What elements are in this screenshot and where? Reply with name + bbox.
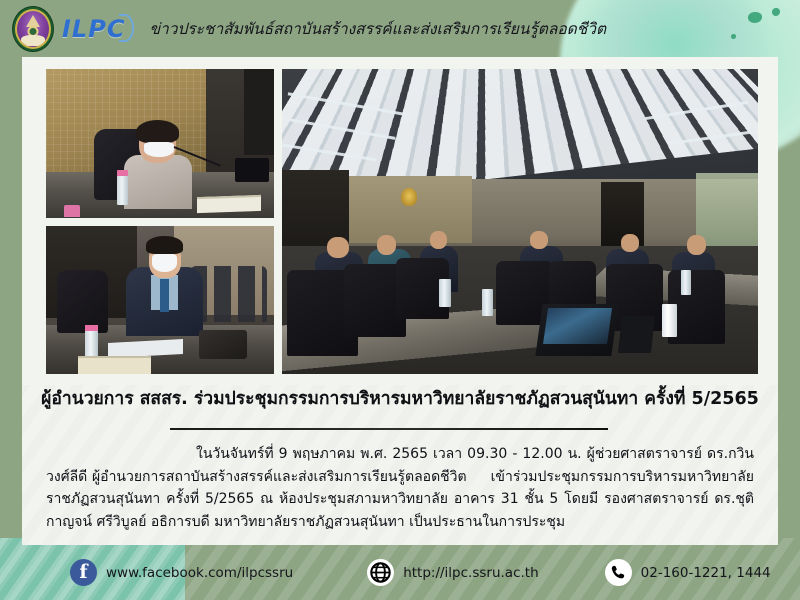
ssru-seal-icon: [12, 6, 54, 52]
photo-conference-room-wide: [282, 69, 758, 374]
photo-collage: [46, 69, 758, 374]
phone-icon[interactable]: [605, 559, 632, 586]
article-headline: ผู้อำนวยการ สสสร. ร่วมประชุมกรรมการบริหา…: [22, 389, 778, 410]
photo-director-at-meeting-table: [46, 69, 274, 218]
website-url-text[interactable]: http://ilpc.ssru.ac.th: [403, 565, 538, 581]
headline-divider: [170, 428, 608, 430]
contact-phone[interactable]: 02-160-1221, 1444: [605, 559, 771, 586]
article-body: ในวันจันทร์ที่ 9 พฤษภาคม พ.ศ. 2565 เวลา …: [46, 443, 754, 534]
contact-facebook[interactable]: f www.facebook.com/ilpcssru: [70, 559, 293, 586]
phone-number-text[interactable]: 02-160-1221, 1444: [641, 565, 771, 581]
brand-logotype: ILPC: [62, 17, 125, 41]
facebook-url-text[interactable]: www.facebook.com/ilpcssru: [106, 565, 293, 581]
contact-website[interactable]: http://ilpc.ssru.ac.th: [367, 559, 538, 586]
globe-icon[interactable]: [367, 559, 394, 586]
facebook-icon[interactable]: f: [70, 559, 97, 586]
footer-contact-bar: f www.facebook.com/ilpcssru http://ilpc.…: [0, 545, 800, 600]
photo-director-seated-with-nameplate: [46, 226, 274, 374]
body-line-4: มหาวิทยาลัยราชภัฏสวนสุนันทา เป็นประธานใน…: [214, 514, 565, 530]
header-bar: ILPC ข่าวประชาสัมพันธ์สถาบันสร้างสรรค์แล…: [0, 0, 800, 57]
header-tagline: ข่าวประชาสัมพันธ์สถาบันสร้างสรรค์และส่งเ…: [149, 16, 606, 41]
collage-left-column: [46, 69, 274, 374]
content-card: ผู้อำนวยการ สสสร. ร่วมประชุมกรรมการบริหา…: [22, 57, 778, 545]
body-line-2a: ผู้อำนวยการสถาบันสร้างสรรค์และส่งเสริมกา…: [92, 469, 467, 485]
